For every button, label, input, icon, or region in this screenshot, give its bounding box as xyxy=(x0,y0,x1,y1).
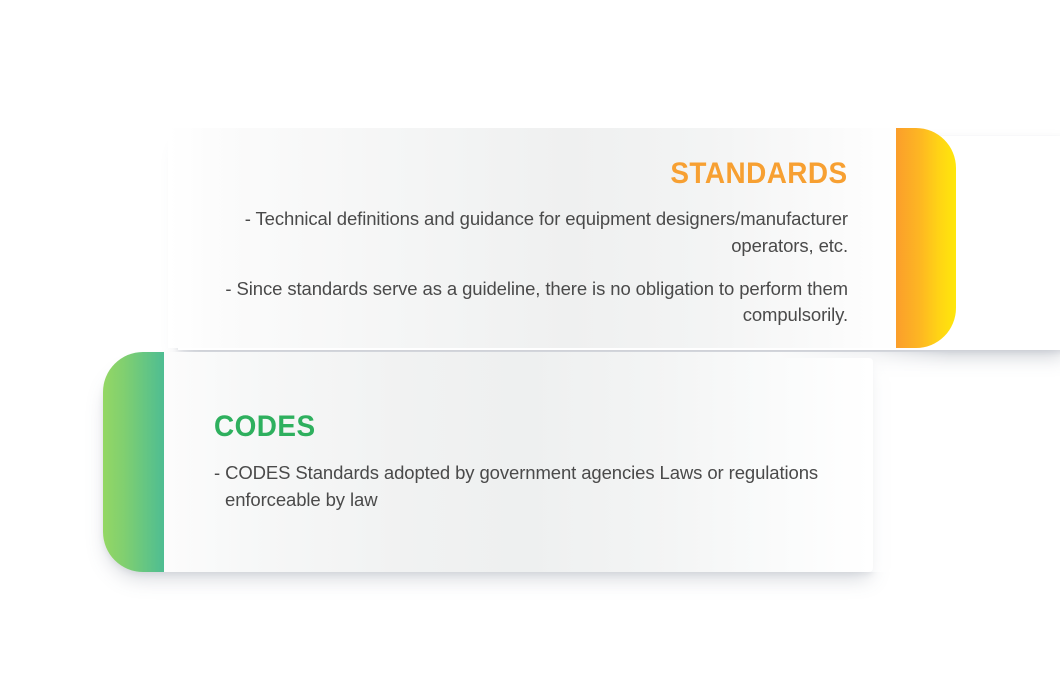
codes-accent-cap xyxy=(103,352,164,572)
standards-card: STANDARDS - Technical definitions and gu… xyxy=(168,128,956,348)
standards-bullet-2: - Since standards serve as a guideline, … xyxy=(208,276,848,330)
standards-card-content: STANDARDS - Technical definitions and gu… xyxy=(168,128,896,348)
codes-card-content: CODES - CODES Standards adopted by gover… xyxy=(164,352,950,572)
standards-accent-cap xyxy=(896,128,956,348)
codes-title: CODES xyxy=(214,412,316,442)
standards-body: - Technical definitions and guidance for… xyxy=(208,206,848,329)
standards-bullet-1: - Technical definitions and guidance for… xyxy=(208,206,848,260)
codes-body: - CODES Standards adopted by government … xyxy=(214,460,834,514)
codes-card: CODES - CODES Standards adopted by gover… xyxy=(103,352,950,572)
codes-bullet-1: - CODES Standards adopted by government … xyxy=(214,460,834,514)
infographic-canvas: STANDARDS - Technical definitions and gu… xyxy=(0,0,1060,700)
standards-title: STANDARDS xyxy=(671,159,848,189)
